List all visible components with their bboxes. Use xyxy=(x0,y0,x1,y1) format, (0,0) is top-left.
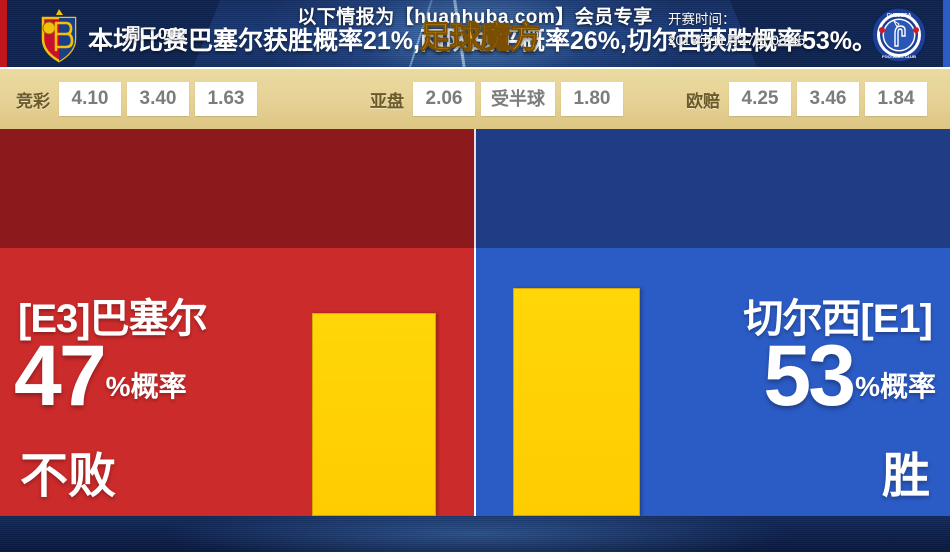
summary-band-divider xyxy=(474,129,476,248)
site-logo-text: 足球魔方 xyxy=(420,12,540,57)
odds-bar: 竞彩 4.10 3.40 1.63 亚盘 2.06 受半球 1.80 欧赔 4.… xyxy=(0,69,950,129)
chelsea-crest-icon: CHELSEA FOOTBALL CLUB xyxy=(870,6,928,64)
odds-group-label: 亚盘 xyxy=(370,87,404,112)
svg-text:CHELSEA: CHELSEA xyxy=(887,13,912,19)
away-outcome-label: 胜 xyxy=(882,436,930,506)
odds-cell-draw[interactable]: 3.46 xyxy=(797,82,859,116)
header-underline xyxy=(0,67,950,69)
odds-group-label: 竞彩 xyxy=(16,87,50,112)
home-probability-bar xyxy=(312,313,436,516)
away-team-panel: 切尔西[E1] 53 %概率 胜 xyxy=(476,248,950,516)
kickoff-label: 开赛时间： xyxy=(668,9,805,30)
match-number: 周二002 xyxy=(125,20,186,44)
basel-crest-icon xyxy=(30,6,88,64)
away-probability-value: 53 xyxy=(763,338,853,415)
odds-group-jingcai: 竞彩 4.10 3.40 1.63 xyxy=(16,69,263,129)
odds-cell-home[interactable]: 2.06 xyxy=(413,82,475,116)
summary-band-left-half xyxy=(0,129,475,248)
away-probability-bar xyxy=(513,288,640,516)
footer-scanline-overlay xyxy=(0,516,950,552)
home-probability-value: 47 xyxy=(14,338,104,415)
odds-group-asian-handicap: 亚盘 2.06 受半球 1.80 xyxy=(370,69,629,129)
away-probability: 53 %概率 xyxy=(763,338,936,415)
odds-cell-home[interactable]: 4.10 xyxy=(59,82,121,116)
odds-cell-draw[interactable]: 3.40 xyxy=(127,82,189,116)
odds-group-european: 欧赔 4.25 3.46 1.84 xyxy=(686,69,933,129)
kickoff-time-block: 开赛时间： 2013年11月27日 03:45 xyxy=(668,9,805,51)
home-team-panel: [E3]巴塞尔 47 %概率 不败 xyxy=(0,248,474,516)
probability-panels: [E3]巴塞尔 47 %概率 不败 切尔西[E1] 53 %概率 胜 xyxy=(0,248,950,516)
footer-bar xyxy=(0,516,950,552)
odds-cell-handicap[interactable]: 受半球 xyxy=(481,82,555,116)
svg-text:FOOTBALL CLUB: FOOTBALL CLUB xyxy=(882,54,916,59)
kickoff-datetime: 2013年11月27日 03:45 xyxy=(668,30,805,51)
header-left-red-edge xyxy=(0,0,7,69)
odds-group-label: 欧赔 xyxy=(686,87,720,112)
home-probability-unit: %概率 xyxy=(106,365,187,415)
home-outcome-label: 不败 xyxy=(20,436,116,506)
home-probability: 47 %概率 xyxy=(14,338,187,415)
match-probability-infographic: CHELSEA FOOTBALL CLUB 周二002 开赛时间： 2013年1… xyxy=(0,0,950,552)
summary-band-right-half xyxy=(475,129,950,248)
odds-cell-away[interactable]: 1.84 xyxy=(865,82,927,116)
panels-divider xyxy=(474,248,476,516)
odds-cell-away[interactable]: 1.80 xyxy=(561,82,623,116)
odds-cell-home[interactable]: 4.25 xyxy=(729,82,791,116)
header-right-blue-edge xyxy=(943,0,950,69)
odds-cell-away[interactable]: 1.63 xyxy=(195,82,257,116)
site-logo[interactable]: 足球魔方 xyxy=(405,8,555,60)
away-probability-unit: %概率 xyxy=(855,365,936,415)
summary-band xyxy=(0,129,950,248)
